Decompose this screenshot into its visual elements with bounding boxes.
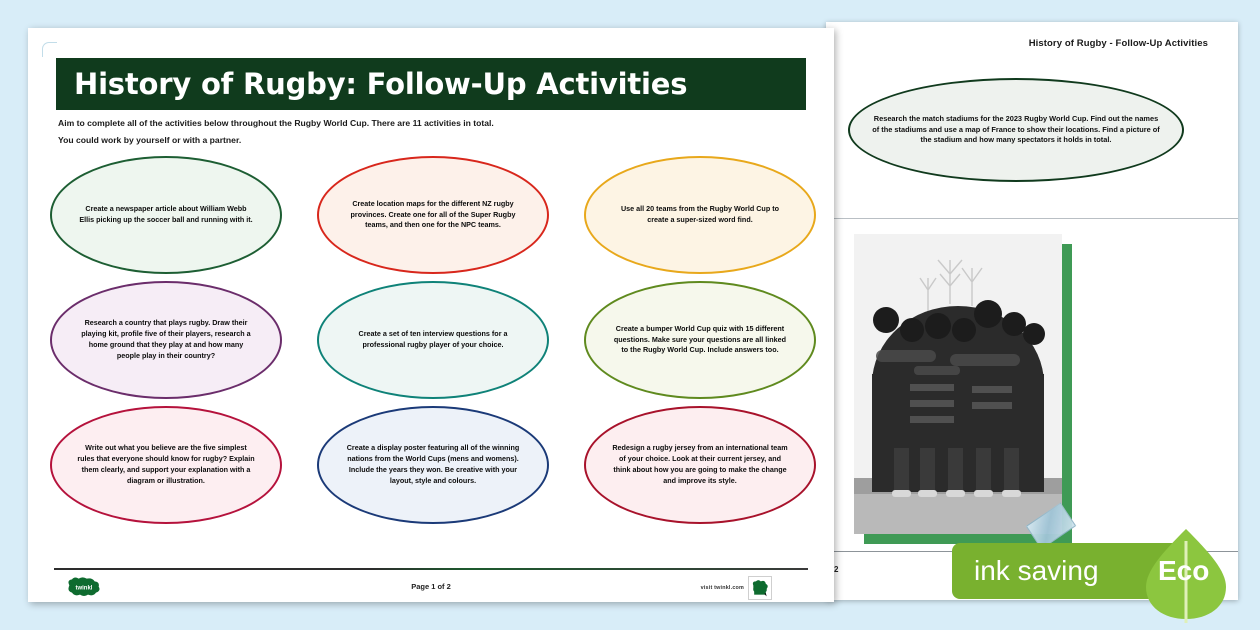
activity-oval-2: Create location maps for the different N…	[317, 156, 549, 274]
page-title-bar: History of Rugby: Follow-Up Activities	[56, 58, 806, 110]
activity-oval-10-text: Research the match stadiums for the 2023…	[870, 114, 1162, 146]
activity-oval-5: Create a set of ten interview questions …	[317, 281, 549, 399]
svg-text:twinkl: twinkl	[76, 585, 93, 591]
activity-oval-9-text: Redesign a rugby jersey from an internat…	[611, 443, 789, 486]
activities-grid: Create a newspaper article about William…	[50, 156, 816, 531]
eco-badge-label: ink saving	[974, 543, 1099, 599]
ink-saving-eco-badge: ink saving Eco	[952, 527, 1260, 630]
activities-row-3: Write out what you believe are the five …	[50, 406, 816, 524]
document-page-1: History of Rugby: Follow-Up Activities A…	[28, 28, 834, 602]
activity-oval-9: Redesign a rugby jersey from an internat…	[584, 406, 816, 524]
activity-oval-6-text: Create a bumper World Cup quiz with 15 d…	[611, 324, 789, 356]
page-title: History of Rugby: Follow-Up Activities	[74, 67, 687, 101]
activities-row-2: Research a country that plays rugby. Dra…	[50, 281, 816, 399]
page2-divider-top	[826, 218, 1238, 219]
activity-oval-1-text: Create a newspaper article about William…	[77, 204, 255, 226]
page2-photo-block	[854, 234, 1062, 534]
intro-line-1: Aim to complete all of the activities be…	[58, 118, 798, 128]
twinkl-logo: twinkl	[64, 576, 104, 598]
page-corner-mark	[42, 42, 57, 57]
page2-header: History of Rugby - Follow-Up Activities	[1029, 38, 1208, 49]
activity-oval-1: Create a newspaper article about William…	[50, 156, 282, 274]
activity-oval-4-text: Research a country that plays rugby. Dra…	[77, 318, 255, 361]
activity-oval-6: Create a bumper World Cup quiz with 15 d…	[584, 281, 816, 399]
activities-row-1: Create a newspaper article about William…	[50, 156, 816, 274]
visit-twinkl-block: visit twinkl.com	[701, 576, 772, 600]
page2-page-number: 2	[834, 565, 838, 574]
activity-oval-2-text: Create location maps for the different N…	[344, 199, 522, 231]
activity-oval-5-text: Create a set of ten interview questions …	[344, 329, 522, 351]
footer-divider	[54, 568, 808, 570]
activity-oval-4: Research a country that plays rugby. Dra…	[50, 281, 282, 399]
intro-block: Aim to complete all of the activities be…	[58, 118, 798, 153]
activity-oval-7: Write out what you believe are the five …	[50, 406, 282, 524]
visit-twinkl-text: visit twinkl.com	[701, 585, 744, 591]
activity-oval-10: Research the match stadiums for the 2023…	[848, 78, 1184, 182]
activity-oval-3: Use all 20 teams from the Rugby World Cu…	[584, 156, 816, 274]
activity-oval-8-text: Create a display poster featuring all of…	[344, 443, 522, 486]
page1-footer: twinkl Page 1 of 2 visit twinkl.com	[54, 574, 808, 602]
eco-badge-eco-label: Eco	[1158, 543, 1209, 599]
page1-page-number: Page 1 of 2	[411, 582, 451, 591]
activity-oval-7-text: Write out what you believe are the five …	[77, 443, 255, 486]
twinkl-badge-icon	[748, 576, 772, 600]
intro-line-2: You could work by yourself or with a par…	[58, 135, 798, 145]
rugby-team-huddle-photo	[854, 234, 1062, 534]
activity-oval-3-text: Use all 20 teams from the Rugby World Cu…	[611, 204, 789, 226]
activity-oval-8: Create a display poster featuring all of…	[317, 406, 549, 524]
document-page-2: History of Rugby - Follow-Up Activities …	[826, 22, 1238, 600]
